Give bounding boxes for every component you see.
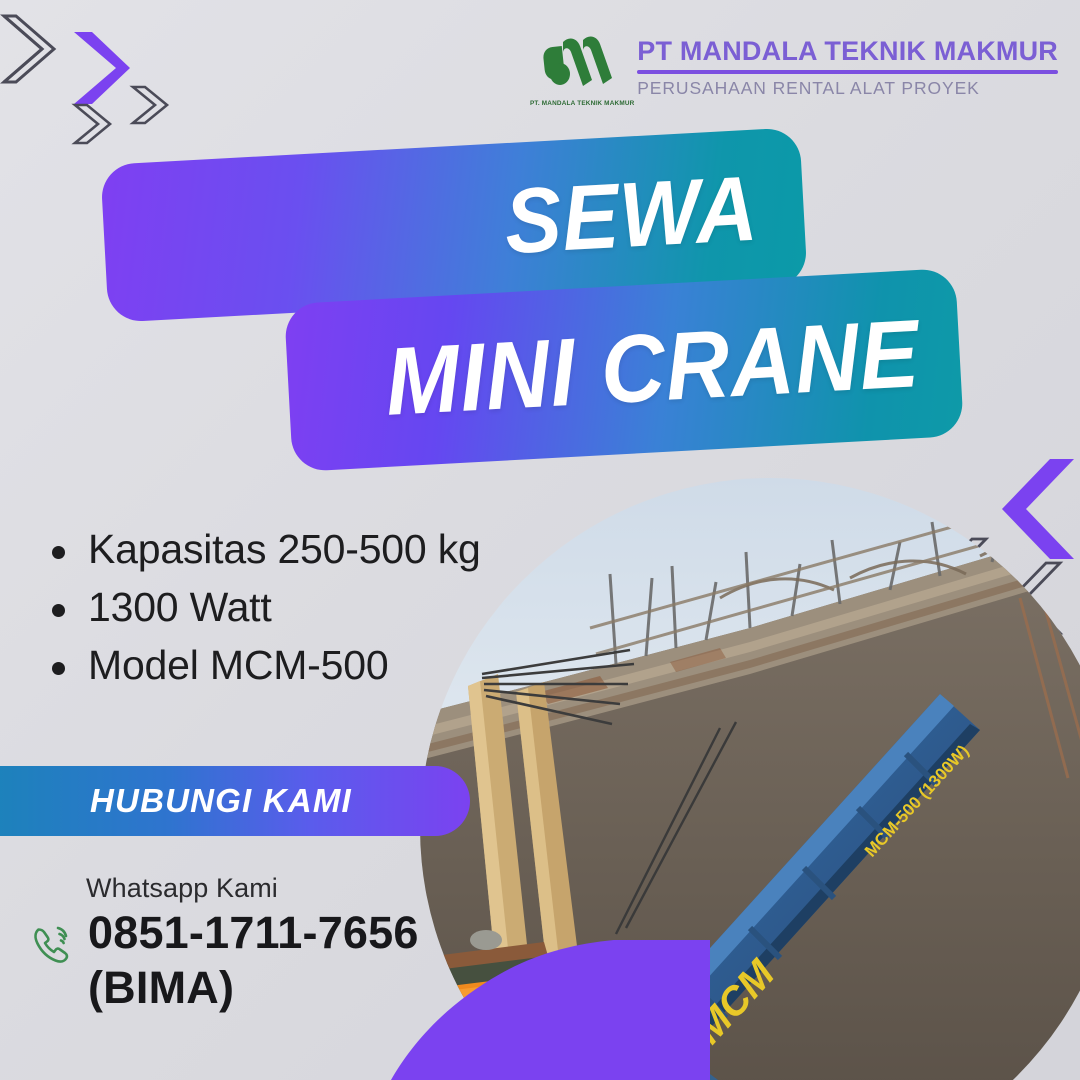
- chevron-right-outline-icon-3: [128, 82, 182, 128]
- company-logo-icon: PT. MANDALA TEKNIK MAKMUR: [543, 30, 621, 106]
- brand-text-group: PT MANDALA TEKNIK MAKMUR PERUSAHAAN RENT…: [637, 37, 1058, 99]
- whatsapp-label: Whatsapp Kami: [86, 873, 498, 904]
- contact-block: Whatsapp Kami 0851-1711-7656 (BIMA): [28, 873, 498, 1016]
- headline-line-2: MINI CRANE: [384, 306, 923, 431]
- chevron-right-outline-icon-1: [0, 10, 58, 88]
- chevron-right-outline-icon-2: [70, 100, 126, 148]
- contact-cta-banner[interactable]: HUBUNGI KAMI: [0, 766, 470, 836]
- spec-item: Model MCM-500: [30, 636, 570, 694]
- chevron-right-solid-icon: [70, 28, 132, 108]
- chevron-left-solid-icon: [996, 455, 1080, 563]
- contact-person: (BIMA): [88, 961, 419, 1016]
- brand-header: PT. MANDALA TEKNIK MAKMUR PT MANDALA TEK…: [543, 30, 1058, 106]
- spec-list: Kapasitas 250-500 kg 1300 Watt Model MCM…: [30, 520, 570, 695]
- logo-caption: PT. MANDALA TEKNIK MAKMUR: [530, 100, 635, 107]
- company-tagline: PERUSAHAAN RENTAL ALAT PROYEK: [637, 78, 980, 99]
- spec-item: 1300 Watt: [30, 578, 570, 636]
- brand-divider: [637, 70, 1058, 74]
- contact-cta-label: HUBUNGI KAMI: [90, 782, 352, 820]
- company-name: PT MANDALA TEKNIK MAKMUR: [637, 37, 1058, 65]
- phone-icon: [28, 920, 78, 970]
- headline-banner-secondary: MINI CRANE: [284, 268, 964, 472]
- poster-canvas: PT. MANDALA TEKNIK MAKMUR PT MANDALA TEK…: [0, 0, 1080, 1080]
- spec-item: Kapasitas 250-500 kg: [30, 520, 570, 578]
- whatsapp-numbers: 0851-1711-7656 (BIMA): [88, 906, 419, 1016]
- headline-line-1: SEWA: [502, 163, 760, 269]
- phone-number[interactable]: 0851-1711-7656: [88, 906, 419, 961]
